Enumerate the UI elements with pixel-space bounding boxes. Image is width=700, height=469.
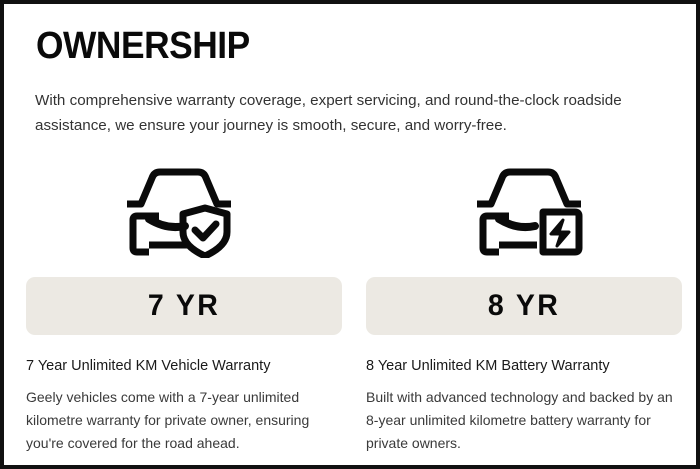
ownership-panel: OWNERSHIP With comprehensive warranty co… [0,0,700,469]
car-battery-bolt-icon [475,166,583,258]
panel-content: OWNERSHIP With comprehensive warranty co… [4,4,696,465]
warranty-columns: 7 Year Unlimited KM Vehicle Warranty Gee… [4,356,700,455]
warranty-title: 7 Year Unlimited KM Vehicle Warranty [26,356,342,376]
badge-vehicle-warranty: 7 YR [26,277,342,335]
icon-cell-battery-warranty [354,166,700,264]
badge-row: 7 YR 8 YR [4,277,700,335]
warranty-description: Geely vehicles come with a 7-year unlimi… [26,386,342,455]
warranty-column-battery: 8 Year Unlimited KM Battery Warranty Bui… [366,356,682,455]
badge-label: 7 YR [148,289,220,323]
icon-cell-vehicle-warranty [4,166,354,264]
intro-paragraph: With comprehensive warranty coverage, ex… [35,88,681,138]
car-shield-check-icon [125,166,233,258]
warranty-column-vehicle: 7 Year Unlimited KM Vehicle Warranty Gee… [26,356,342,455]
page-title: OWNERSHIP [36,24,250,68]
warranty-description: Built with advanced technology and backe… [366,386,682,455]
warranty-title: 8 Year Unlimited KM Battery Warranty [366,356,682,376]
badge-battery-warranty: 8 YR [366,277,682,335]
badge-label: 8 YR [488,289,560,323]
icon-row [4,166,700,264]
